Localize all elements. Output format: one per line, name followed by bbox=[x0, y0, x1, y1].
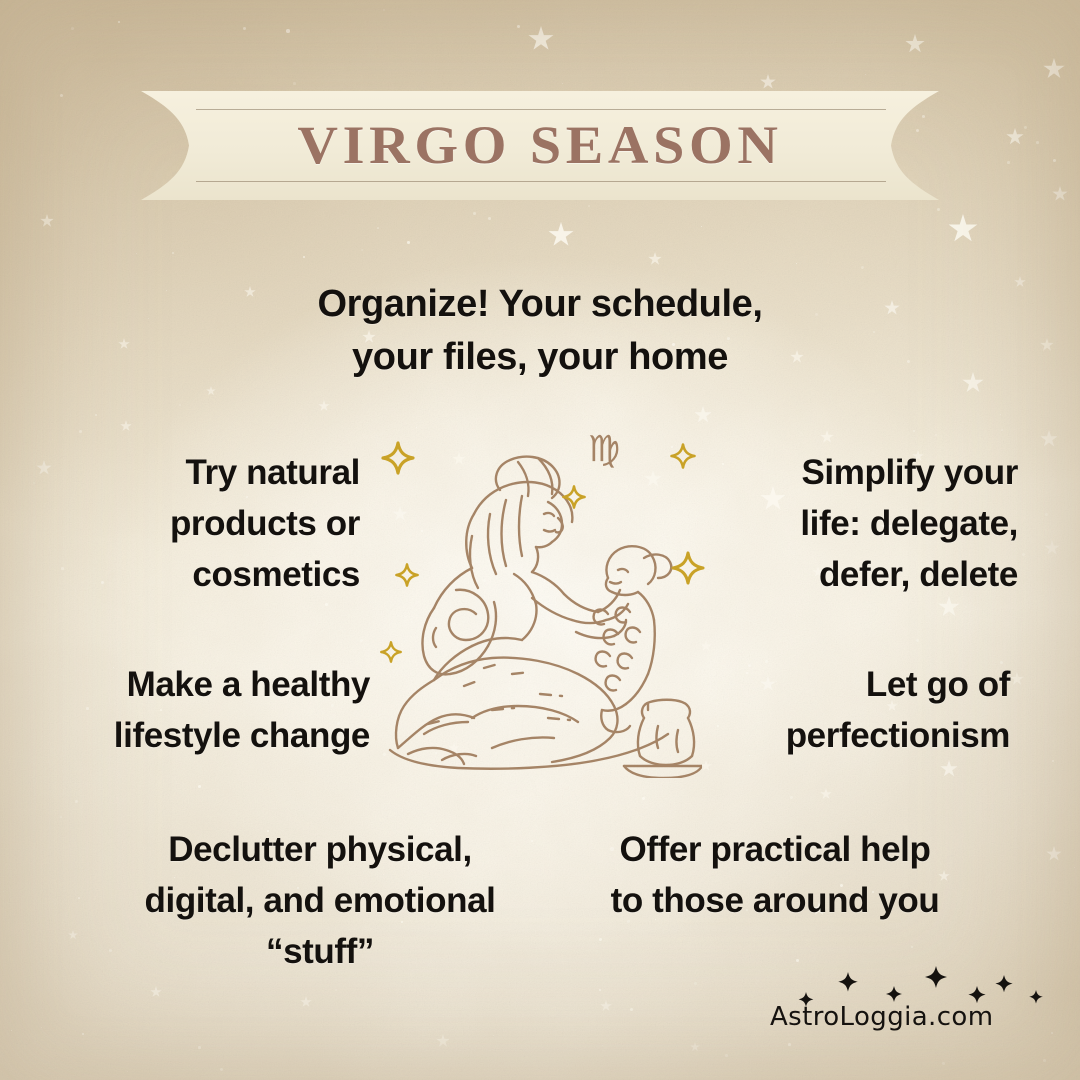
background-speck bbox=[935, 434, 937, 436]
sparkle-icon bbox=[671, 551, 705, 585]
background-speck bbox=[198, 1046, 201, 1049]
tip-natural-products: Try naturalproducts orcosmetics bbox=[60, 447, 360, 600]
background-speck bbox=[865, 74, 866, 75]
background-star bbox=[300, 996, 312, 1008]
background-star bbox=[1043, 58, 1065, 80]
background-speck bbox=[198, 785, 201, 788]
background-speck bbox=[41, 1027, 42, 1028]
background-speck bbox=[1043, 1059, 1046, 1062]
background-speck bbox=[60, 94, 63, 97]
background-speck bbox=[118, 21, 120, 23]
background-speck bbox=[166, 290, 167, 291]
background-star bbox=[690, 1042, 700, 1052]
background-speck bbox=[916, 639, 919, 642]
background-speck bbox=[293, 82, 296, 85]
background-speck bbox=[335, 989, 337, 991]
background-star bbox=[1040, 338, 1054, 352]
background-speck bbox=[95, 414, 97, 416]
background-star bbox=[40, 214, 54, 228]
background-star bbox=[820, 430, 834, 444]
background-star bbox=[206, 386, 216, 396]
sparkle-icon bbox=[380, 641, 402, 663]
background-speck bbox=[694, 982, 697, 985]
background-speck bbox=[360, 639, 363, 642]
background-star bbox=[120, 420, 132, 432]
background-speck bbox=[493, 1035, 494, 1036]
sparkle-icon bbox=[670, 443, 696, 469]
background-speck bbox=[148, 318, 149, 319]
background-speck bbox=[377, 227, 379, 229]
background-speck bbox=[1000, 414, 1001, 415]
background-speck bbox=[937, 208, 940, 211]
background-speck bbox=[71, 27, 74, 30]
background-speck bbox=[796, 263, 797, 264]
background-speck bbox=[1001, 429, 1003, 431]
background-speck bbox=[861, 266, 864, 269]
background-speck bbox=[407, 241, 410, 244]
background-star bbox=[884, 300, 900, 316]
background-speck bbox=[52, 439, 53, 440]
background-star bbox=[648, 252, 662, 266]
tip-healthy-lifestyle: Make a healthylifestyle change bbox=[40, 659, 370, 761]
background-speck bbox=[243, 27, 246, 30]
sparkle-icon bbox=[395, 563, 419, 587]
background-speck bbox=[562, 83, 563, 84]
background-star bbox=[1044, 540, 1060, 556]
background-speck bbox=[588, 205, 590, 207]
background-speck bbox=[75, 800, 78, 803]
background-speck bbox=[717, 725, 719, 727]
background-star bbox=[905, 34, 925, 54]
background-speck bbox=[911, 946, 913, 948]
background-speck bbox=[517, 25, 520, 28]
tip-declutter: Declutter physical,digital, and emotiona… bbox=[105, 824, 535, 977]
page-title: VIRGO SEASON bbox=[0, 106, 1080, 184]
background-speck bbox=[1045, 513, 1048, 516]
background-speck bbox=[488, 217, 491, 220]
background-speck bbox=[630, 1008, 633, 1011]
background-speck bbox=[79, 430, 82, 433]
background-speck bbox=[790, 796, 793, 799]
tip-organize: Organize! Your schedule,your files, your… bbox=[240, 278, 840, 384]
background-speck bbox=[913, 430, 915, 432]
background-speck bbox=[1022, 553, 1025, 556]
sparkle-icon bbox=[562, 485, 586, 509]
background-star bbox=[548, 222, 574, 248]
virgo-maiden-with-lamb-illustration bbox=[372, 418, 702, 778]
tip-simplify: Simplify yourlife: delegate,defer, delet… bbox=[718, 447, 1018, 600]
background-star bbox=[1040, 430, 1058, 448]
background-star bbox=[68, 930, 78, 940]
background-star bbox=[1046, 846, 1062, 862]
background-speck bbox=[965, 606, 967, 608]
background-speck bbox=[1051, 1032, 1053, 1034]
background-speck bbox=[286, 29, 290, 33]
background-speck bbox=[303, 256, 305, 258]
background-star bbox=[36, 460, 52, 476]
background-speck bbox=[325, 603, 328, 606]
background-star bbox=[600, 1000, 612, 1012]
virgo-season-poster: VIRGO SEASON Organize! Your schedule,you… bbox=[0, 0, 1080, 1080]
background-star bbox=[1010, 672, 1024, 686]
background-star bbox=[528, 26, 554, 52]
tip-offer-help: Offer practical helpto those around you bbox=[575, 824, 975, 926]
background-speck bbox=[33, 482, 35, 484]
background-speck bbox=[788, 1043, 791, 1046]
background-speck bbox=[599, 989, 601, 991]
watermark-text: AstroLoggia.com bbox=[770, 1002, 993, 1032]
background-speck bbox=[136, 253, 137, 254]
background-speck bbox=[1052, 760, 1054, 762]
background-speck bbox=[602, 1045, 603, 1046]
background-speck bbox=[127, 1071, 128, 1072]
background-speck bbox=[60, 816, 62, 818]
background-speck bbox=[82, 1033, 84, 1035]
background-speck bbox=[220, 1068, 223, 1071]
background-star bbox=[940, 760, 958, 778]
background-speck bbox=[873, 331, 875, 333]
tip-perfectionism: Let go ofperfectionism bbox=[720, 659, 1010, 761]
background-speck bbox=[172, 252, 174, 254]
background-speck bbox=[1074, 867, 1075, 868]
background-star bbox=[820, 788, 832, 800]
background-speck bbox=[361, 249, 363, 251]
background-star bbox=[962, 372, 984, 394]
background-star bbox=[1052, 186, 1068, 202]
background-speck bbox=[3, 891, 4, 892]
background-speck bbox=[701, 226, 702, 227]
background-speck bbox=[725, 1054, 728, 1057]
background-speck bbox=[383, 9, 385, 11]
background-speck bbox=[179, 404, 181, 406]
background-star bbox=[760, 74, 776, 90]
background-star bbox=[948, 214, 978, 244]
background-speck bbox=[642, 797, 645, 800]
background-star bbox=[150, 986, 162, 998]
background-star bbox=[436, 1034, 450, 1048]
background-speck bbox=[599, 938, 602, 941]
background-speck bbox=[78, 897, 80, 899]
background-star bbox=[318, 400, 330, 412]
sparkle-icon bbox=[381, 441, 415, 475]
background-speck bbox=[11, 1030, 12, 1031]
background-speck bbox=[907, 360, 910, 363]
background-speck bbox=[942, 1062, 945, 1065]
background-star bbox=[118, 338, 130, 350]
background-star bbox=[1014, 276, 1026, 288]
background-speck bbox=[473, 212, 476, 215]
